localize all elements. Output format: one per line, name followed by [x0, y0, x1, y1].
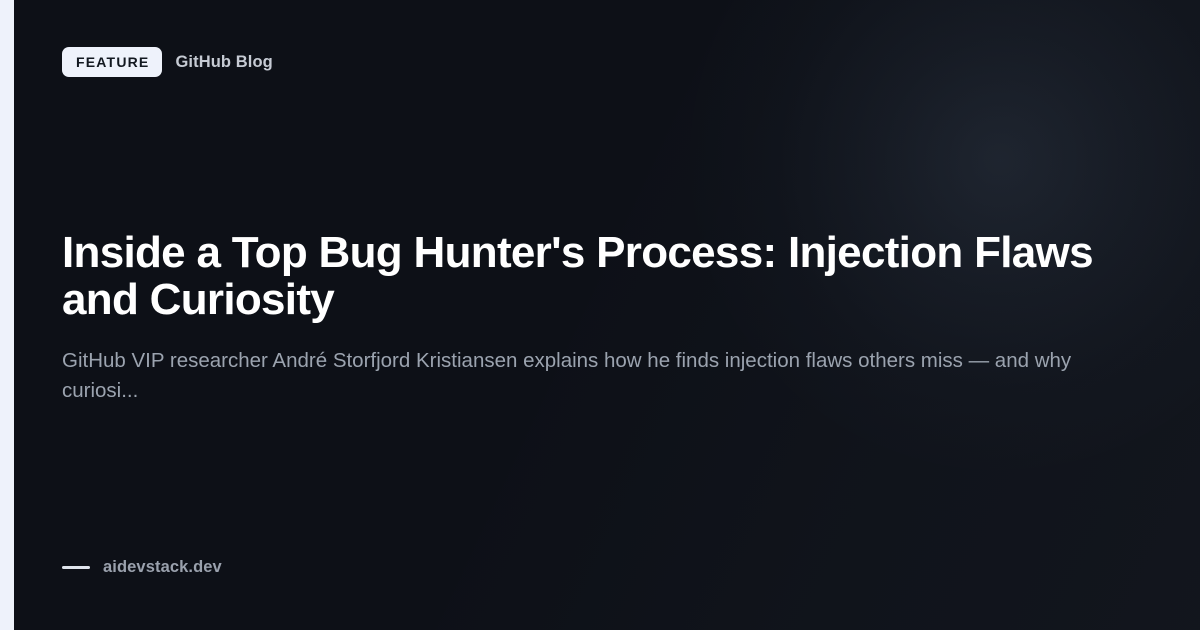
- article-description: GitHub VIP researcher André Storfjord Kr…: [62, 346, 1126, 406]
- source-label: GitHub Blog: [175, 54, 272, 71]
- article-title: Inside a Top Bug Hunter's Process: Injec…: [62, 229, 1122, 323]
- social-share-card: FEATURE GitHub Blog Inside a Top Bug Hun…: [0, 0, 1200, 630]
- feature-badge: FEATURE: [62, 47, 162, 77]
- dash-icon: [62, 566, 90, 569]
- kicker-row: FEATURE GitHub Blog: [62, 47, 273, 77]
- site-domain: aidevstack.dev: [103, 559, 222, 576]
- footer-row: aidevstack.dev: [62, 559, 222, 576]
- card-content: FEATURE GitHub Blog Inside a Top Bug Hun…: [0, 0, 1200, 630]
